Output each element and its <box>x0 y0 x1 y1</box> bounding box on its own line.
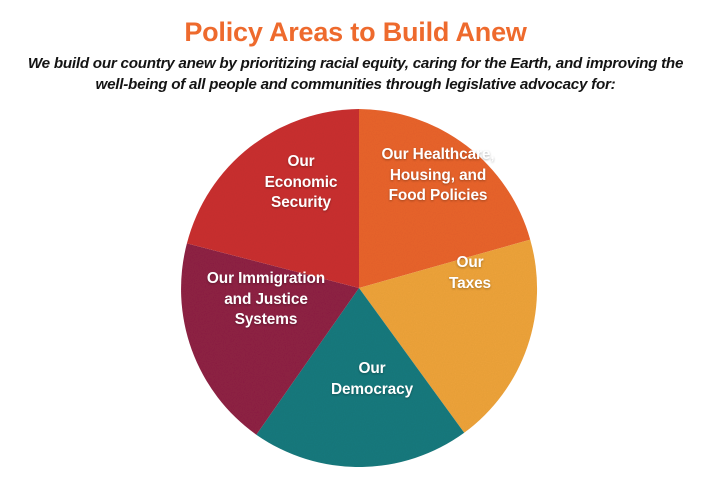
page-subtitle: We build our country anew by prioritizin… <box>18 54 693 96</box>
infographic-canvas: Policy Areas to Build Anew We build our … <box>0 0 711 480</box>
pie-chart: Our Healthcare, Housing, and Food Polici… <box>180 109 538 467</box>
page-title: Policy Areas to Build Anew <box>0 18 711 46</box>
pie-chart-svg <box>180 109 538 467</box>
